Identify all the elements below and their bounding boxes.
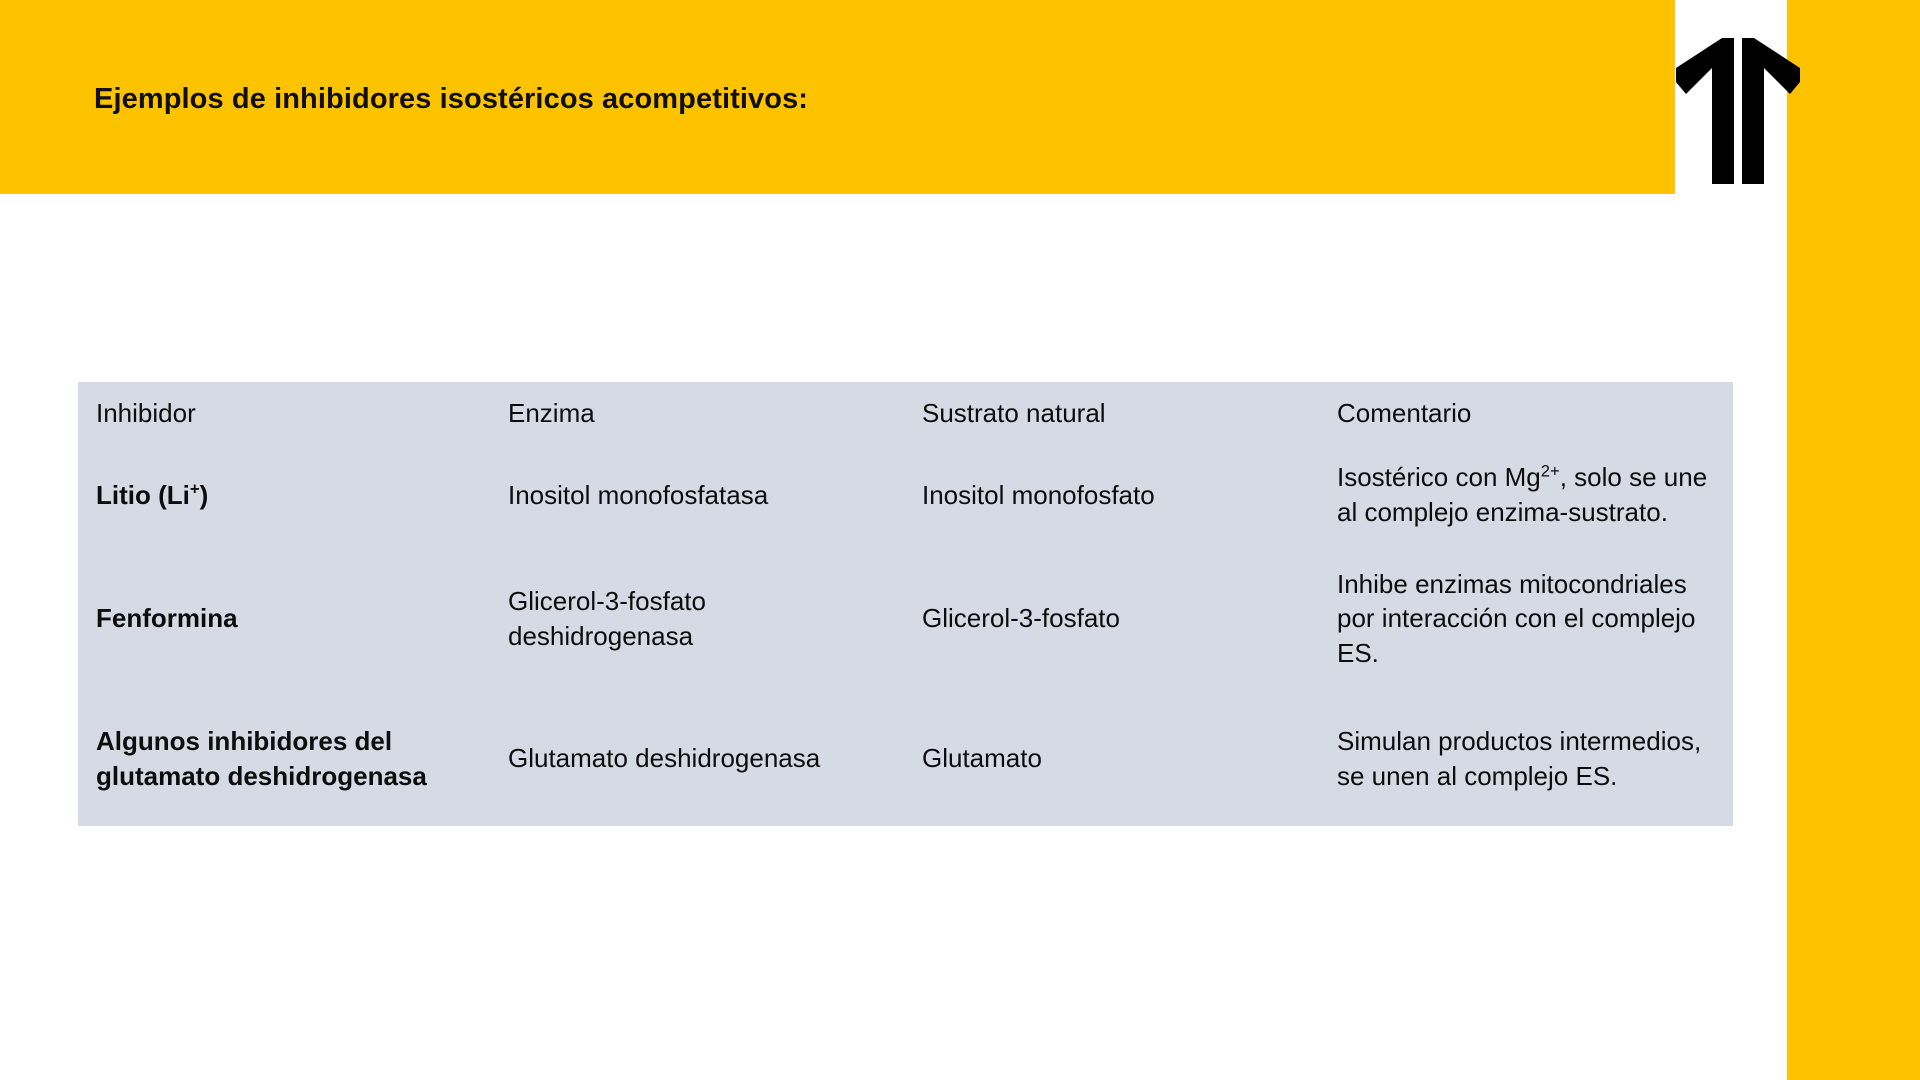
cell-sustrato: Glutamato bbox=[908, 691, 1323, 826]
double-up-arrow-logo bbox=[1676, 38, 1800, 184]
column-header-comentario: Comentario bbox=[1323, 382, 1733, 444]
cell-sustrato: Glicerol-3-fosfato bbox=[908, 546, 1323, 691]
cell-inhibidor-superscript: + bbox=[190, 479, 200, 498]
cell-inhibidor-tail: ) bbox=[200, 480, 209, 510]
inhibitors-table: Inhibidor Enzima Sustrato natural Coment… bbox=[78, 382, 1733, 826]
cell-enzima: Inositol monofosfatasa bbox=[494, 444, 908, 546]
table-row: Algunos inhibidores del glutamato deshid… bbox=[78, 691, 1733, 826]
column-header-enzima: Enzima bbox=[494, 382, 908, 444]
table-row: Fenformina Glicerol-3-fosfato deshidroge… bbox=[78, 546, 1733, 691]
cell-comentario-pre: Isostérico con Mg bbox=[1337, 462, 1541, 492]
table-header-row: Inhibidor Enzima Sustrato natural Coment… bbox=[78, 382, 1733, 444]
cell-enzima: Glicerol-3-fosfato deshidrogenasa bbox=[494, 546, 908, 691]
page-title: Ejemplos de inhibidores isostéricos acom… bbox=[94, 83, 808, 116]
cell-sustrato: Inositol monofosfato bbox=[908, 444, 1323, 546]
cell-inhibidor-text: Litio (Li bbox=[96, 480, 190, 510]
cell-inhibidor: Litio (Li+) bbox=[78, 444, 494, 546]
cell-enzima: Glutamato deshidrogenasa bbox=[494, 691, 908, 826]
right-accent-bar bbox=[1787, 0, 1920, 1080]
cell-comentario: Isostérico con Mg2+, solo se une al comp… bbox=[1323, 444, 1733, 546]
cell-inhibidor: Algunos inhibidores del glutamato deshid… bbox=[78, 691, 494, 826]
table-row: Litio (Li+) Inositol monofosfatasa Inosi… bbox=[78, 444, 1733, 546]
column-header-sustrato-natural: Sustrato natural bbox=[908, 382, 1323, 444]
cell-inhibidor: Fenformina bbox=[78, 546, 494, 691]
cell-comentario: Simulan productos intermedios, se unen a… bbox=[1323, 691, 1733, 826]
slide-canvas: Ejemplos de inhibidores isostéricos acom… bbox=[0, 0, 1920, 1080]
cell-comentario: Inhibe enzimas mitocondriales por intera… bbox=[1323, 546, 1733, 691]
column-header-inhibidor: Inhibidor bbox=[78, 382, 494, 444]
cell-comentario-superscript: 2+ bbox=[1541, 462, 1560, 481]
